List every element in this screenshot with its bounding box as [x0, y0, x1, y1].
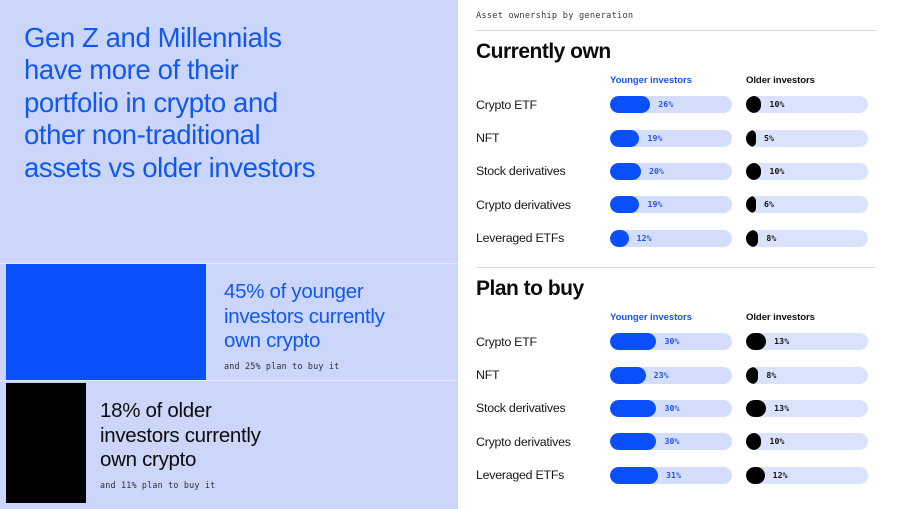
- row-label: Stock derivatives: [476, 164, 610, 178]
- stat-text-younger: 45% of younger investors currently own c…: [206, 264, 458, 380]
- bar-fill-older: [746, 230, 758, 247]
- bar-value-younger: 12%: [637, 230, 652, 247]
- bar-fill-younger: [610, 96, 650, 113]
- chart-row: Crypto derivatives19%6%: [476, 188, 876, 221]
- bar-value-younger: 19%: [647, 130, 662, 147]
- bar-track-older: 5%: [746, 130, 868, 147]
- bar-value-older: 8%: [766, 367, 776, 384]
- bar-value-older: 10%: [769, 96, 784, 113]
- bar-track-younger: 30%: [610, 333, 732, 350]
- bar-fill-younger: [610, 433, 656, 450]
- legend: Younger investorsOlder investors: [476, 303, 876, 323]
- bar-fill-younger: [610, 400, 656, 417]
- bar-cell-younger: 26%: [610, 96, 746, 113]
- bar-cell-older: 6%: [746, 196, 876, 213]
- bar-track-younger: 20%: [610, 163, 732, 180]
- row-label: Leveraged ETFs: [476, 231, 610, 245]
- stat-text-older: 18% of older investors currently own cry…: [86, 381, 458, 509]
- bar-cell-older: 8%: [746, 230, 876, 247]
- bar-track-older: 13%: [746, 333, 868, 350]
- row-label: Crypto derivatives: [476, 198, 610, 212]
- row-label: Crypto ETF: [476, 335, 610, 349]
- legend: Younger investorsOlder investors: [476, 66, 876, 86]
- chart-row: Stock derivatives20%10%: [476, 155, 876, 188]
- chart-section-1: Currently ownYounger investorsOlder inve…: [476, 40, 876, 255]
- stat-card-younger: 45% of younger investors currently own c…: [0, 263, 458, 380]
- bar-track-older: 12%: [746, 467, 868, 484]
- bar-value-older: 8%: [766, 230, 776, 247]
- legend-label-younger: Younger investors: [610, 312, 746, 323]
- hero-block: Gen Z and Millennials have more of their…: [0, 0, 458, 263]
- bar-value-older: 12%: [773, 467, 788, 484]
- row-label: NFT: [476, 368, 610, 382]
- bar-fill-older: [746, 333, 766, 350]
- bar-cell-older: 10%: [746, 433, 876, 450]
- bar-cell-younger: 23%: [610, 367, 746, 384]
- row-label: Crypto ETF: [476, 98, 610, 112]
- bar-fill-older: [746, 196, 756, 213]
- bar-value-younger: 23%: [654, 367, 669, 384]
- stat-card-older: 18% of older investors currently own cry…: [0, 380, 458, 509]
- chart-row: Leveraged ETFs31%12%: [476, 459, 876, 492]
- stat-subtext-younger: and 25% plan to buy it: [224, 361, 444, 371]
- bar-cell-younger: 19%: [610, 196, 746, 213]
- row-label: NFT: [476, 131, 610, 145]
- bar-fill-younger: [610, 333, 656, 350]
- bar-cell-older: 12%: [746, 467, 876, 484]
- bar-value-younger: 31%: [666, 467, 681, 484]
- chart-row: Crypto ETF30%13%: [476, 325, 876, 358]
- swatch-blue: [6, 264, 206, 380]
- bar-value-older: 5%: [764, 130, 774, 147]
- chart-section-2: Plan to buyYounger investorsOlder invest…: [476, 267, 876, 492]
- section-divider: [476, 267, 876, 268]
- bar-fill-older: [746, 367, 758, 384]
- bar-track-younger: 12%: [610, 230, 732, 247]
- bar-cell-older: 10%: [746, 96, 876, 113]
- left-panel: Gen Z and Millennials have more of their…: [0, 0, 458, 509]
- bar-value-older: 13%: [774, 333, 789, 350]
- header-divider: [476, 30, 876, 31]
- chart-row: Leveraged ETFs12%8%: [476, 222, 876, 255]
- bar-cell-older: 10%: [746, 163, 876, 180]
- section-title: Currently own: [476, 40, 876, 64]
- bar-cell-younger: 31%: [610, 467, 746, 484]
- bar-fill-younger: [610, 163, 641, 180]
- bar-cell-older: 8%: [746, 367, 876, 384]
- bar-cell-younger: 30%: [610, 433, 746, 450]
- chart-eyebrow-title: Asset ownership by generation: [476, 11, 876, 21]
- bar-value-younger: 20%: [649, 163, 664, 180]
- stat-headline-older: 18% of older investors currently own cry…: [100, 399, 444, 473]
- bar-fill-older: [746, 433, 761, 450]
- bar-track-younger: 30%: [610, 433, 732, 450]
- bar-value-younger: 26%: [658, 96, 673, 113]
- bar-fill-younger: [610, 130, 639, 147]
- bar-cell-older: 13%: [746, 400, 876, 417]
- bar-value-younger: 30%: [664, 333, 679, 350]
- bar-cell-older: 13%: [746, 333, 876, 350]
- bar-cell-younger: 30%: [610, 333, 746, 350]
- row-label: Crypto derivatives: [476, 435, 610, 449]
- bar-track-younger: 19%: [610, 130, 732, 147]
- bar-track-older: 8%: [746, 230, 868, 247]
- legend-label-older: Older investors: [746, 75, 876, 86]
- bar-value-older: 13%: [774, 400, 789, 417]
- chart-sections: Currently ownYounger investorsOlder inve…: [468, 40, 876, 492]
- chart-row: Crypto ETF26%10%: [476, 88, 876, 121]
- chart-row: Stock derivatives30%13%: [476, 392, 876, 425]
- swatch-black: [6, 383, 86, 503]
- bar-track-younger: 30%: [610, 400, 732, 417]
- bar-track-older: 10%: [746, 96, 868, 113]
- stat-headline-younger: 45% of younger investors currently own c…: [224, 280, 444, 354]
- right-panel: Asset ownership by generation Currently …: [458, 0, 900, 509]
- bar-track-older: 10%: [746, 433, 868, 450]
- bar-cell-younger: 12%: [610, 230, 746, 247]
- bar-track-younger: 23%: [610, 367, 732, 384]
- bar-value-younger: 30%: [664, 400, 679, 417]
- legend-label-older: Older investors: [746, 312, 876, 323]
- bar-fill-younger: [610, 230, 629, 247]
- bar-fill-older: [746, 96, 761, 113]
- page-title: Gen Z and Millennials have more of their…: [24, 22, 432, 184]
- bar-track-younger: 31%: [610, 467, 732, 484]
- bar-value-younger: 19%: [647, 196, 662, 213]
- bar-cell-younger: 19%: [610, 130, 746, 147]
- bar-track-older: 13%: [746, 400, 868, 417]
- bar-track-younger: 19%: [610, 196, 732, 213]
- row-label: Stock derivatives: [476, 401, 610, 415]
- bar-fill-younger: [610, 196, 639, 213]
- infographic-page: Gen Z and Millennials have more of their…: [0, 0, 900, 509]
- chart-row: NFT19%5%: [476, 121, 876, 154]
- bar-track-older: 8%: [746, 367, 868, 384]
- bar-value-older: 10%: [769, 163, 784, 180]
- bar-fill-older: [746, 163, 761, 180]
- bar-fill-older: [746, 400, 766, 417]
- chart-row: Crypto derivatives30%10%: [476, 425, 876, 458]
- row-label: Leveraged ETFs: [476, 468, 610, 482]
- bar-track-younger: 26%: [610, 96, 732, 113]
- legend-label-younger: Younger investors: [610, 75, 746, 86]
- bar-fill-younger: [610, 467, 658, 484]
- bar-fill-younger: [610, 367, 646, 384]
- bar-value-older: 10%: [769, 433, 784, 450]
- bar-track-older: 10%: [746, 163, 868, 180]
- bar-track-older: 6%: [746, 196, 868, 213]
- bar-cell-younger: 30%: [610, 400, 746, 417]
- chart-row: NFT23%8%: [476, 358, 876, 391]
- section-title: Plan to buy: [476, 277, 876, 301]
- bar-fill-older: [746, 130, 756, 147]
- bar-fill-older: [746, 467, 765, 484]
- stat-subtext-older: and 11% plan to buy it: [100, 480, 444, 490]
- bar-value-younger: 30%: [664, 433, 679, 450]
- bar-cell-younger: 20%: [610, 163, 746, 180]
- bar-value-older: 6%: [764, 196, 774, 213]
- bar-cell-older: 5%: [746, 130, 876, 147]
